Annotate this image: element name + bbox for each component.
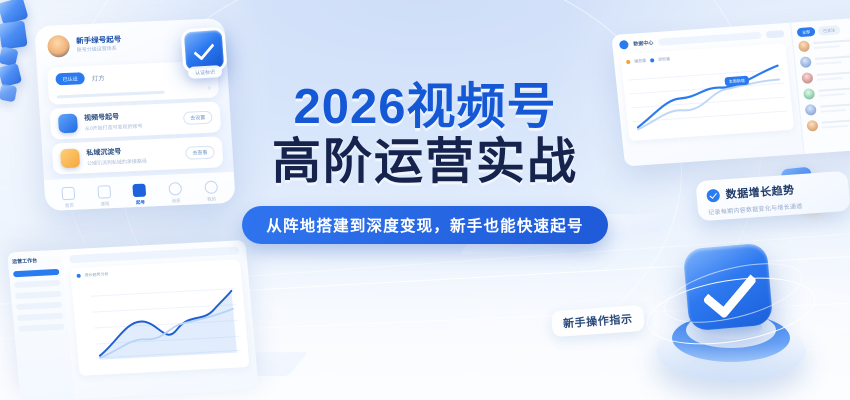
- check-circle-icon: [706, 188, 720, 202]
- dashboard-logo-label: 运营工作台: [12, 256, 59, 265]
- export-button[interactable]: [766, 30, 785, 38]
- avatar: [798, 40, 810, 52]
- legend-swatch: [626, 60, 630, 64]
- badge-title: 数据增长趋势: [725, 182, 795, 203]
- chart-card-title: 增长趋势分析: [84, 271, 109, 278]
- search-input[interactable]: [658, 32, 762, 46]
- sidebar-item-overview[interactable]: [13, 269, 60, 277]
- promo-banner: 新手绿号起号 账号分级运营体系 已认证 灯方 › 视频号起号 从0开始打造可变现…: [0, 0, 850, 400]
- subtitle-pill: 从阵地搭建到深度变现，新手也能快速起号: [242, 206, 607, 244]
- list-item[interactable]: [798, 37, 850, 52]
- page-title-line1: 2026视频号: [0, 82, 850, 133]
- logo-icon: [619, 40, 629, 50]
- sidebar-item-settings[interactable]: [18, 324, 65, 332]
- legend-label: 涨粉量: [658, 56, 671, 63]
- avatar: [800, 56, 812, 68]
- mini-pill-label: 认证标识: [188, 65, 223, 79]
- chart-card: 增长趋势分析: [70, 259, 250, 375]
- dashboard-logo-label: 数据中心: [633, 39, 654, 47]
- sidebar-item-students[interactable]: [17, 313, 64, 321]
- legend-swatch: [650, 58, 654, 62]
- sidebar-item-content[interactable]: [14, 280, 61, 288]
- avatar: [47, 35, 70, 58]
- hero-3d-checkmark: [640, 232, 820, 400]
- cube-icon: [0, 20, 28, 49]
- panel-tab-followed[interactable]: 已关注: [818, 25, 841, 35]
- legend-swatch: [77, 274, 81, 278]
- legend-label: 播放量: [634, 58, 647, 65]
- account-subtitle: 账号分级运营体系: [77, 45, 122, 54]
- sidebar-item-growth[interactable]: [15, 291, 62, 299]
- dashboard-bottom-left: 运营工作台 增长趋势分析: [7, 240, 258, 400]
- area-chart-bottom-left: [77, 275, 243, 371]
- list-item[interactable]: [800, 53, 850, 68]
- panel-tab-all[interactable]: 全部: [797, 27, 816, 37]
- sidebar-item-private[interactable]: [16, 302, 63, 310]
